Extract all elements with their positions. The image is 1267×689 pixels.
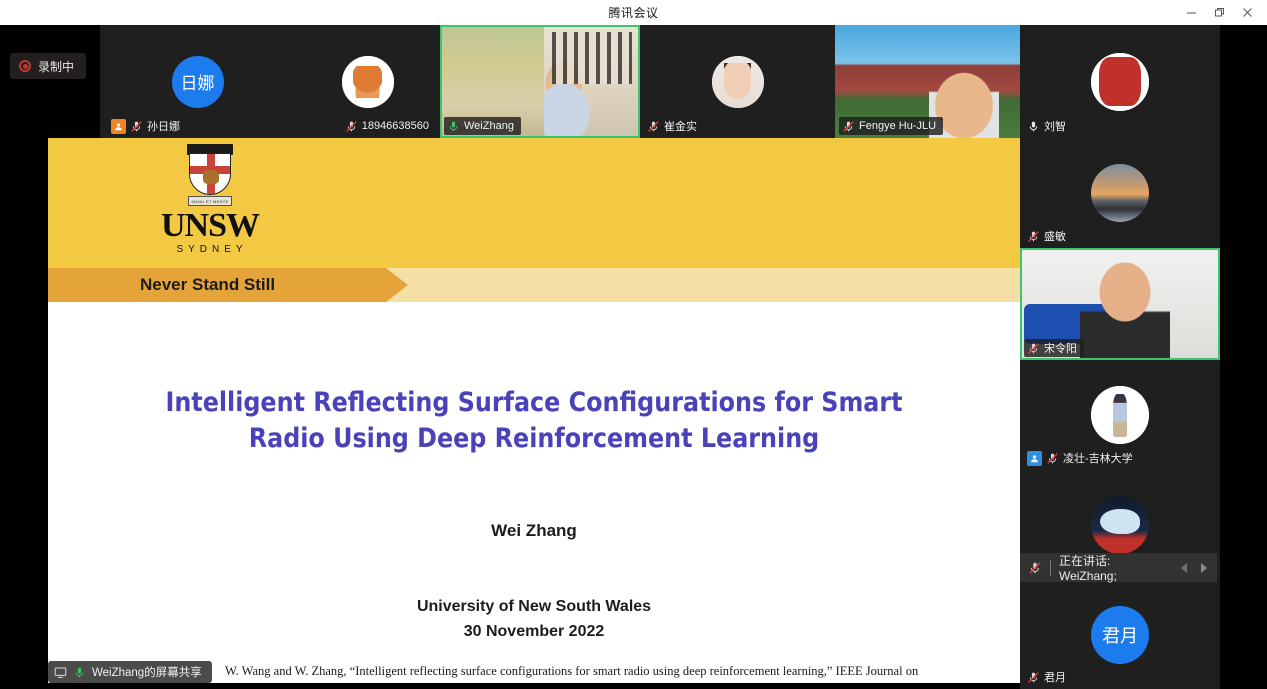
nameplate: 崔金实 [644,117,704,135]
slide-banner: Never Stand Still [48,268,1020,302]
avatar [1091,164,1149,222]
unsw-wordmark: UNSW [130,208,290,244]
avatar [1091,53,1149,111]
slide-affiliation: University of New South Wales 30 Novembe… [48,594,1020,644]
participant-name: 宋令阳 [1044,340,1077,356]
tile-spacer [0,25,100,138]
monitor-icon [54,666,67,679]
nameplate: Fengye Hu-JLU [839,117,943,135]
participant-name: 崔金实 [664,118,697,134]
unsw-crest-icon: MANU ET MENTE [187,144,233,206]
screen-share-label: WeiZhang的屏幕共享 [92,664,202,680]
participant-name: 君月 [1044,669,1066,685]
unsw-logo: MANU ET MENTE UNSW SYDNEY [130,144,290,255]
minimize-button[interactable] [1177,0,1205,25]
nameplate: 孙日娜 [108,117,187,135]
close-button[interactable] [1233,0,1261,25]
crest-motto: MANU ET MENTE [188,196,232,206]
avatar: 君月 [1091,606,1149,664]
participant-name: 18946638560 [362,120,429,132]
window-controls [1177,0,1261,25]
nav-arrows [1177,561,1211,575]
host-badge-icon [1027,451,1042,466]
slide-body: Intelligent Reflecting Surface Configura… [48,302,1020,683]
participant-name: 凌壮-吉林大学 [1063,450,1133,466]
banner-text: Never Stand Still [140,268,275,302]
presentation-slide: MANU ET MENTE UNSW SYDNEY Never Stand St… [48,138,1020,683]
restore-button[interactable] [1205,0,1233,25]
slide-author: Wei Zhang [48,521,1020,541]
nameplate: 宋令阳 [1024,339,1084,357]
avatar [712,56,764,108]
shared-screen-area: MANU ET MENTE UNSW SYDNEY Never Stand St… [0,138,1020,689]
screen-share-indicator[interactable]: WeiZhang的屏幕共享 [48,661,212,683]
recording-indicator[interactable]: 录制中 [10,53,86,79]
whale-avatar-image [1091,496,1149,554]
mic-off-icon[interactable] [1028,561,1042,575]
mic-off-icon [1027,230,1040,243]
participant-tile-junyue[interactable]: 君月 君月 [1020,580,1220,689]
avatar [1091,386,1149,444]
participant-tile-weizhang[interactable]: WeiZhang [440,25,640,138]
avatar: 日娜 [172,56,224,108]
mic-off-icon [1027,342,1040,355]
host-badge-icon [111,119,126,134]
tiger-avatar-image [342,56,394,108]
sidebar-right-gutter [1220,25,1267,689]
mic-off-icon [1046,452,1059,465]
window-title: 腾讯会议 [608,4,658,21]
participant-tile-shengmin[interactable]: 盛敏 [1020,138,1220,248]
nameplate: 盛敏 [1024,227,1073,245]
participant-name: 刘智 [1044,118,1066,134]
record-icon [19,60,31,72]
nameplate: 刘智 [1024,117,1073,135]
participant-tile-liuzhi[interactable]: 刘智 [1020,25,1220,138]
affiliation-line: University of New South Wales [48,594,1020,619]
tencent-meeting-window: 腾讯会议 录制中 [0,0,1267,689]
sunset-avatar-image [1091,164,1149,222]
participant-name: WeiZhang [464,120,514,132]
participant-tile-18946638560[interactable]: 18946638560 [295,25,440,138]
nameplate: WeiZhang [444,117,521,135]
nameplate: 凌壮-吉林大学 [1024,449,1140,467]
mic-on-icon [73,666,86,679]
slide-citation: W. Wang and W. Zhang, “Intelligent refle… [225,663,945,683]
participant-tile-cuijinshi[interactable]: 崔金实 [640,25,835,138]
mic-off-icon [1027,671,1040,684]
mic-on-icon [1027,120,1040,133]
date-line: 30 November 2022 [48,619,1020,644]
next-arrow-icon[interactable] [1195,561,1211,575]
participant-tile-fengyehu[interactable]: Fengye Hu-JLU [835,25,1030,138]
participant-name: Fengye Hu-JLU [859,120,936,132]
active-speaker-bar[interactable]: 正在讲话: WeiZhang; [1020,553,1217,582]
participant-name: 盛敏 [1044,228,1066,244]
participant-tile-lingzhuang[interactable]: 凌壮-吉林大学 [1020,360,1220,470]
slide-header: MANU ET MENTE UNSW SYDNEY [48,138,1020,268]
mic-on-icon [447,120,460,133]
nameplate: 君月 [1024,668,1073,686]
speaking-label: 正在讲话: WeiZhang; [1059,552,1169,583]
participant-name: 孙日娜 [147,118,180,134]
portrait-avatar-image [712,56,764,108]
prev-arrow-icon[interactable] [1177,561,1193,575]
divider [1050,560,1051,576]
window-titlebar: 腾讯会议 [0,0,1267,25]
mic-off-icon [647,120,660,133]
participant-tile-songlingyang[interactable]: 宋令阳 [1020,248,1220,360]
mic-off-icon [842,120,855,133]
mic-off-icon [130,120,143,133]
recording-label: 录制中 [38,58,74,75]
participant-tile-sunrina[interactable]: 日娜 孙日娜 [100,25,295,138]
avatar [342,56,394,108]
cartoon-avatar-image [1091,386,1149,444]
slide-title: Intelligent Reflecting Surface Configura… [128,385,940,457]
seal-avatar-image [1091,53,1149,111]
mic-off-icon [345,120,358,133]
avatar [1091,496,1149,554]
unsw-subtitle: SYDNEY [130,244,290,255]
participant-sidebar[interactable]: 刘智 盛敏 [1020,25,1220,689]
nameplate: 18946638560 [342,117,436,135]
participant-filmstrip: 日娜 孙日娜 [0,25,1020,138]
